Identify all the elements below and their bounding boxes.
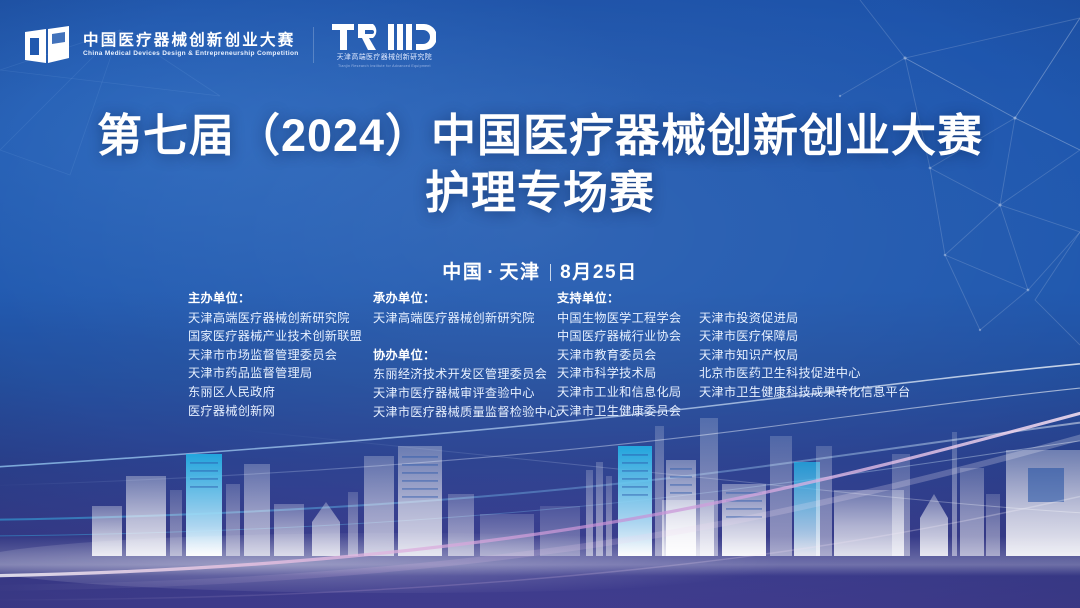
list-item: 天津市医疗器械审评查验中心 (373, 384, 557, 403)
list-item: 东丽区人民政府 (188, 383, 373, 402)
host-list: 天津高端医疗器械创新研究院 国家医疗器械产业技术创新联盟 天津市市场监督管理委员… (188, 309, 373, 421)
open-book-door-logo-icon (22, 22, 72, 68)
list-item: 中国生物医学工程学会 (557, 309, 685, 328)
location-separator-dot: · (487, 262, 495, 283)
list-item: 天津高端医疗器械创新研究院 (188, 309, 373, 328)
triid-wordmark-icon (332, 22, 436, 52)
list-item: 北京市医药卫生科技促进中心 (699, 364, 905, 383)
competition-logo[interactable]: 中国医疗器械创新创业大赛 China Medical Devices Desig… (22, 22, 295, 68)
list-item: 东丽经济技术开发区管理委员会 (373, 365, 557, 384)
list-item: 天津市医疗保障局 (699, 327, 905, 346)
organisers-column-support: 支持单位： 中国生物医学工程学会 中国医疗器械行业协会 天津市教育委员会 天津市… (557, 289, 905, 420)
poster-title-block: 第七届（2024）中国医疗器械创新创业大赛 护理专场赛 (0, 108, 1080, 221)
competition-logo-cn: 中国医疗器械创新创业大赛 (83, 33, 295, 49)
institute-logo[interactable]: 天津高端医疗器械创新研究院 Tianjin Research Institute… (332, 22, 436, 69)
coorganizer-list: 东丽经济技术开发区管理委员会 天津市医疗器械审评查验中心 天津市医疗器械质量监督… (373, 365, 557, 421)
list-item: 天津市教育委员会 (557, 346, 685, 365)
organisers-column-host: 主办单位： 天津高端医疗器械创新研究院 国家医疗器械产业技术创新联盟 天津市市场… (188, 289, 373, 420)
institute-logo-cn: 天津高端医疗器械创新研究院 (337, 55, 432, 62)
support-heading: 支持单位： (557, 289, 905, 308)
list-item: 天津市知识产权局 (699, 346, 905, 365)
title-line-2: 护理专场赛 (0, 165, 1080, 222)
location-city: 天津 (499, 262, 540, 283)
location-country: 中国 (442, 262, 483, 283)
header-logos: 中国医疗器械创新创业大赛 China Medical Devices Desig… (22, 22, 436, 69)
event-date: 8月25日 (560, 262, 638, 283)
vertical-divider (550, 264, 552, 281)
organizer-list: 天津高端医疗器械创新研究院 (373, 309, 557, 328)
list-item: 天津市市场监督管理委员会 (188, 346, 373, 365)
list-item: 医疗器械创新网 (188, 402, 373, 421)
list-item: 天津市医疗器械质量监督检验中心 (373, 403, 557, 422)
list-item: 中国医疗器械行业协会 (557, 327, 685, 346)
host-heading: 主办单位： (188, 289, 373, 308)
organizer-heading: 承办单位： (373, 289, 557, 308)
list-item: 天津市卫生健康科技成果转化信息平台 (699, 383, 905, 402)
list-item: 天津市投资促进局 (699, 309, 905, 328)
support-list-right: 天津市投资促进局 天津市医疗保障局 天津市知识产权局 北京市医药卫生科技促进中心… (699, 309, 905, 421)
list-item: 天津市科学技术局 (557, 364, 685, 383)
list-item: 天津市药品监督管理局 (188, 364, 373, 383)
support-list-left: 中国生物医学工程学会 中国医疗器械行业协会 天津市教育委员会 天津市科学技术局 … (557, 309, 685, 421)
list-item: 天津市卫生健康委员会 (557, 402, 685, 421)
column-spacer (373, 327, 557, 346)
competition-logo-en: China Medical Devices Design & Entrepren… (83, 51, 300, 58)
location-date-line: 中国·天津8月25日 (0, 257, 1080, 284)
organisers-block: 主办单位： 天津高端医疗器械创新研究院 国家医疗器械产业技术创新联盟 天津市市场… (188, 289, 905, 421)
list-item: 天津高端医疗器械创新研究院 (373, 309, 557, 328)
city-skyline-silhouette (0, 398, 1080, 608)
list-item: 天津市工业和信息化局 (557, 383, 685, 402)
event-poster: 中国医疗器械创新创业大赛 China Medical Devices Desig… (0, 0, 1080, 608)
logo-divider (313, 27, 314, 63)
institute-logo-en: Tianjin Research Institute for Advanced … (338, 65, 431, 69)
coorganizer-heading: 协办单位： (373, 346, 557, 365)
list-item: 国家医疗器械产业技术创新联盟 (188, 327, 373, 346)
title-line-1: 第七届（2024）中国医疗器械创新创业大赛 (0, 108, 1080, 165)
organisers-column-organizer: 承办单位： 天津高端医疗器械创新研究院 协办单位： 东丽经济技术开发区管理委员会… (373, 289, 557, 421)
